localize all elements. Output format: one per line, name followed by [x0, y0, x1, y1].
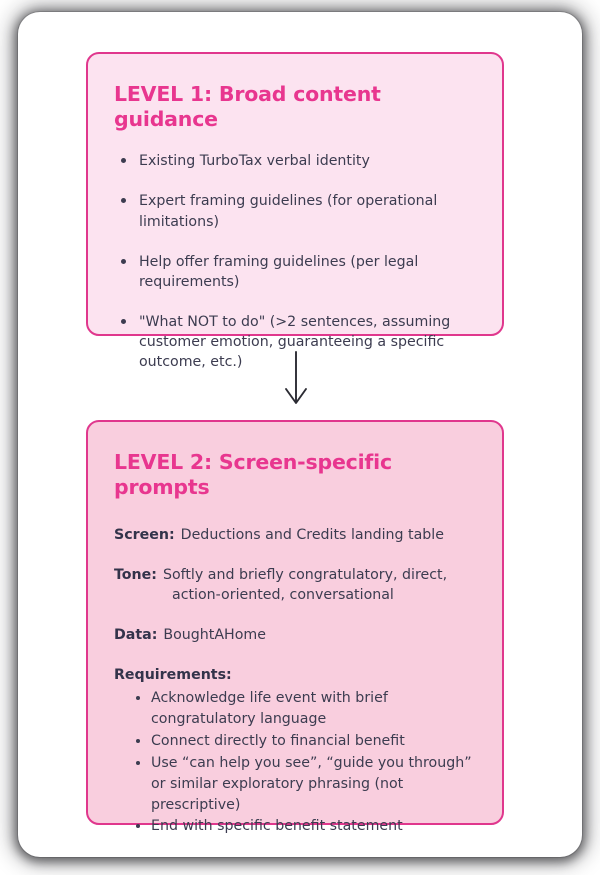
field-row-data: Data:BoughtAHome	[114, 625, 476, 646]
level-1-bullet-list: Existing TurboTax verbal identity Expert…	[114, 151, 476, 372]
list-item: Connect directly to financial benefit	[114, 731, 476, 752]
list-item: Acknowledge life event with brief congra…	[114, 688, 476, 730]
field-label: Screen:	[114, 527, 175, 543]
list-item: End with specific benefit statement	[114, 816, 476, 837]
field-value: Deductions and Credits landing table	[181, 527, 444, 543]
screenshot-root: LEVEL 1: Broad content guidance Existing…	[0, 0, 600, 875]
field-label: Tone:	[114, 567, 157, 583]
list-item: Help offer framing guidelines (per legal…	[114, 252, 476, 292]
requirements-list: Acknowledge life event with brief congra…	[114, 688, 476, 837]
list-item: Existing TurboTax verbal identity	[114, 151, 476, 171]
level-1-box: LEVEL 1: Broad content guidance Existing…	[86, 52, 504, 336]
requirements-heading: Requirements:	[114, 665, 476, 686]
level-1-title: LEVEL 1: Broad content guidance	[114, 82, 476, 131]
list-item: Use “can help you see”, “guide you throu…	[114, 753, 476, 816]
down-arrow-icon	[280, 350, 312, 408]
two-level-prompt-diagram: LEVEL 1: Broad content guidance Existing…	[64, 34, 536, 835]
field-row-tone: Tone:Softly and briefly congratulatory, …	[114, 565, 476, 606]
field-label: Data:	[114, 627, 157, 643]
content-card: LEVEL 1: Broad content guidance Existing…	[18, 12, 582, 857]
level-2-title: LEVEL 2: Screen-specific prompts	[114, 450, 476, 499]
field-value: Softly and briefly congratulatory, direc…	[163, 567, 447, 604]
list-item: Expert framing guidelines (for operation…	[114, 191, 476, 231]
field-value: BoughtAHome	[163, 627, 266, 643]
level-2-box: LEVEL 2: Screen-specific prompts Screen:…	[86, 420, 504, 825]
field-row-screen: Screen:Deductions and Credits landing ta…	[114, 525, 476, 546]
